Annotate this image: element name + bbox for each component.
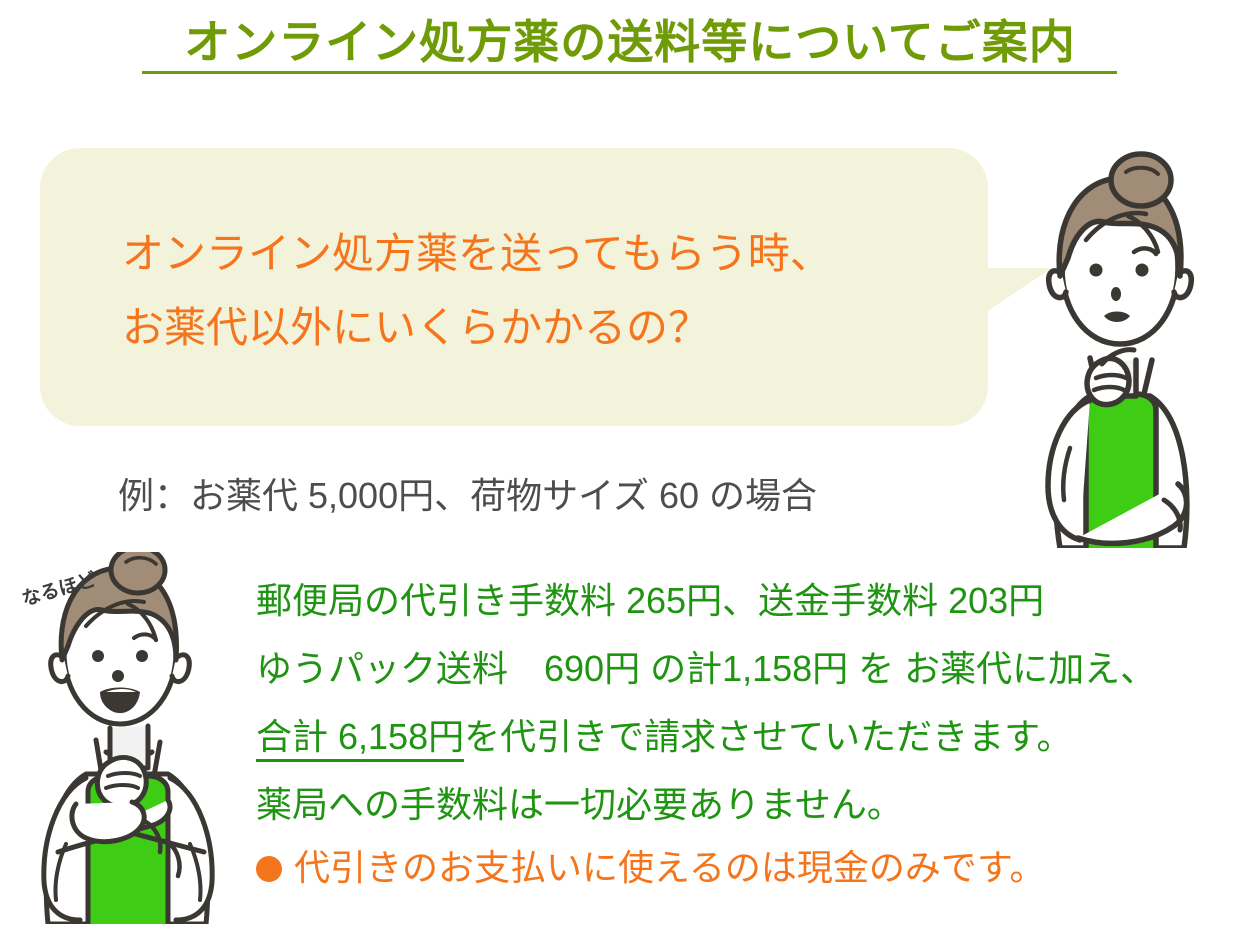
grand-total-underlined: 合計 6,158円: [256, 716, 464, 762]
detail-line-fees: 郵便局の代引き手数料 265円、送金手数料 203円: [256, 578, 1044, 624]
speech-bubble-line-1: オンライン処方薬を送ってもらう時、: [122, 228, 832, 280]
speech-bubble: [40, 148, 988, 426]
detail-line-total-rest: を代引きで請求させていただきます。: [464, 716, 1072, 757]
woman-understanding-illustration: [18, 552, 244, 924]
speech-bubble-line-2: お薬代以外にいくらかかるの？: [122, 302, 710, 354]
woman-thinking-illustration: [978, 148, 1260, 548]
detail-line-cash-only: 代引きのお支払いに使えるのは現金のみです。: [256, 845, 1045, 891]
example-case-text: 例：お薬代 5,000円、荷物サイズ 60 の場合: [118, 474, 817, 518]
bullet-dot-icon: [256, 856, 282, 882]
detail-line-total: 合計 6,158円を代引きで請求させていただきます。: [256, 714, 1073, 760]
detail-line-no-pharmacy-fee: 薬局への手数料は一切必要ありません。: [256, 782, 903, 828]
page-title: オンライン処方薬の送料等についてご案内: [140, 14, 1120, 70]
title-underline: [142, 71, 1117, 74]
detail-line-shipping: ゆうパック送料 690円 の計1,158円 を お薬代に加え、: [256, 646, 1156, 692]
detail-line-cash-only-text: 代引きのお支払いに使えるのは現金のみです。: [294, 847, 1045, 888]
